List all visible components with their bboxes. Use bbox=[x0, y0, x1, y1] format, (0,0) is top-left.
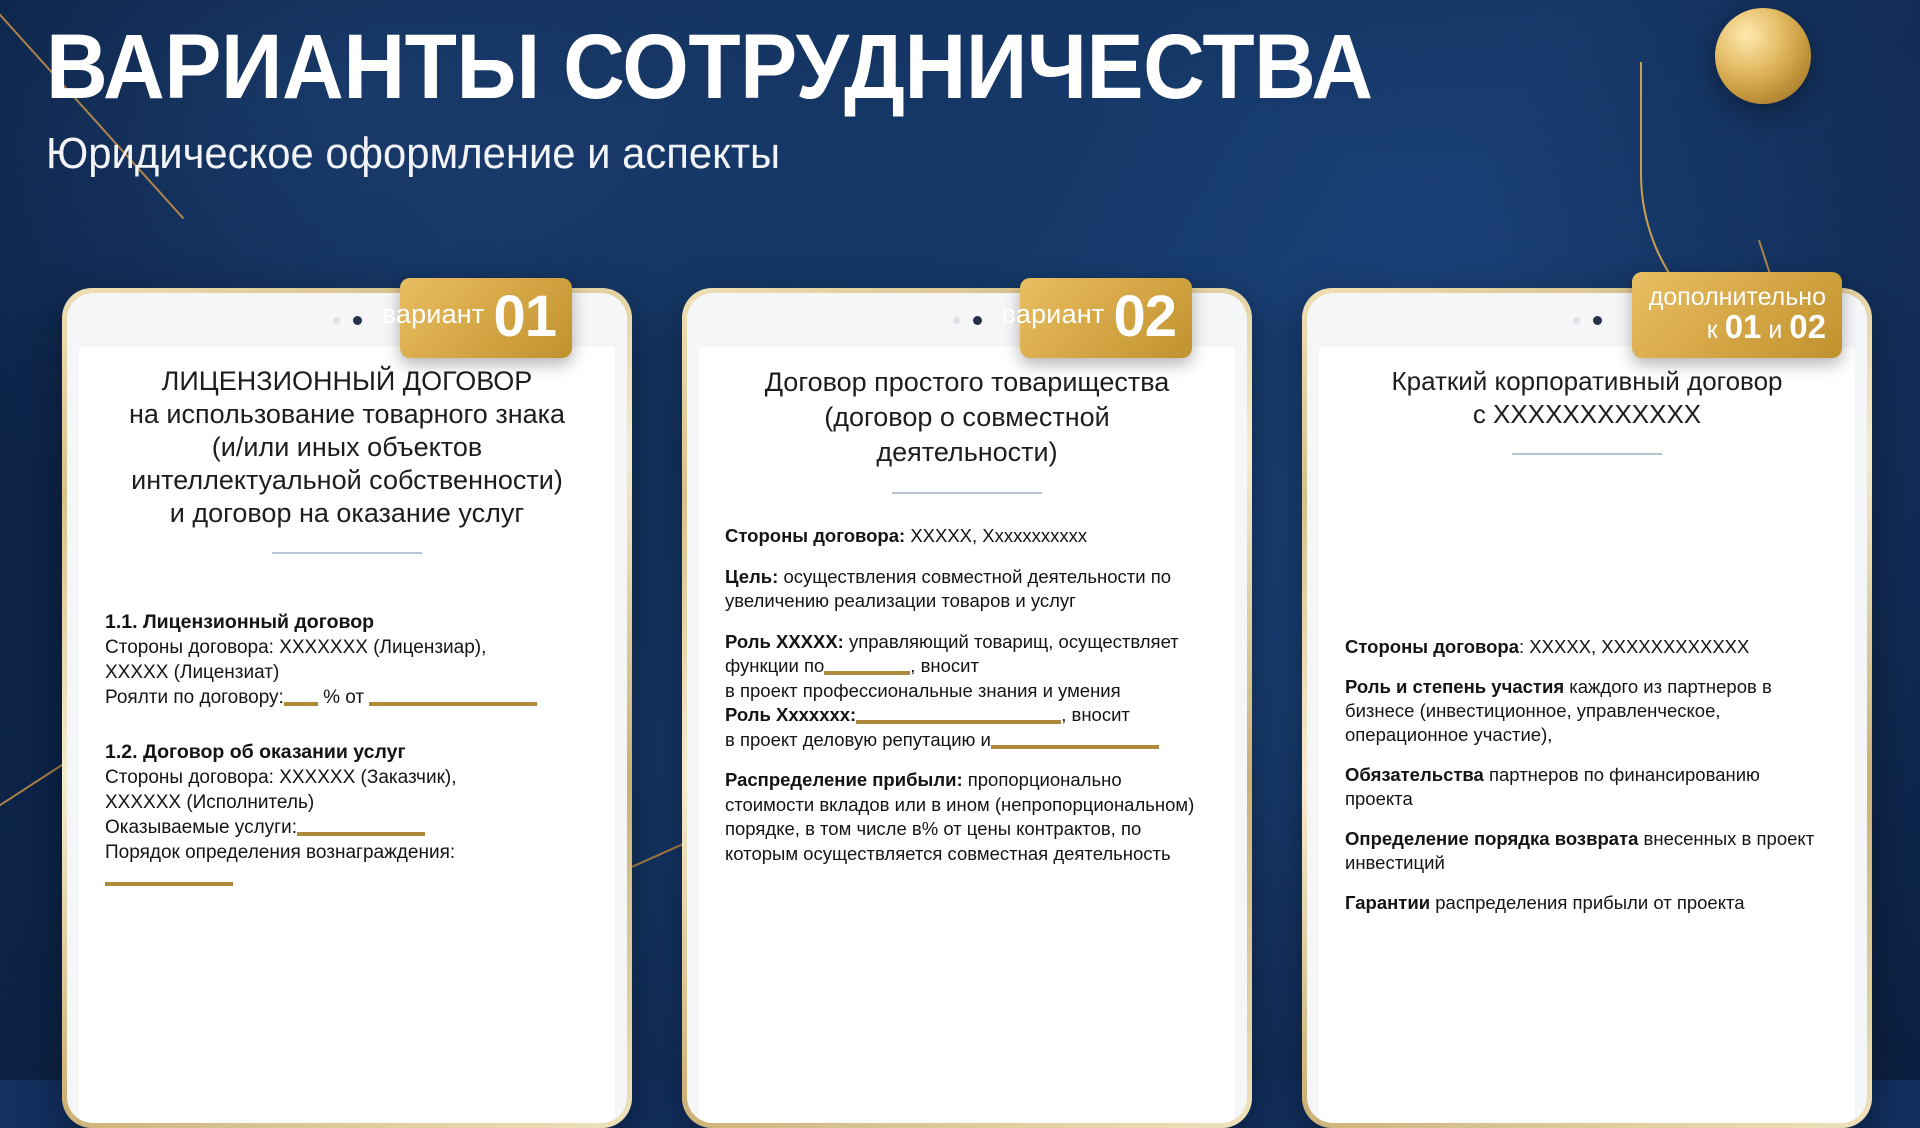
card-3-parties-label: Стороны договора bbox=[1345, 636, 1519, 657]
card-2-role-y-line3-row: в проект деловую репутацию и bbox=[725, 728, 1209, 753]
card-2-item-role-x: Роль ХХХХХ: управляющий товарищ, осущест… bbox=[725, 630, 1209, 704]
card-3-badge-num-1: 01 bbox=[1725, 308, 1762, 345]
card-3-item-return: Определение порядка возврата внесенных в… bbox=[1345, 827, 1829, 875]
sensor-icon bbox=[953, 317, 960, 324]
card-2-divider bbox=[892, 492, 1042, 494]
sensor-icon bbox=[1573, 317, 1580, 324]
card-3-badge-line-2: к 01 и 02 bbox=[1707, 312, 1826, 345]
card-2-item-profit: Распределение прибыли: пропорционально с… bbox=[725, 768, 1209, 866]
card-3-divider bbox=[1512, 453, 1662, 455]
card-2-heading-line-3: деятельности) bbox=[725, 435, 1209, 470]
card-2-role-x-tail: , вносит bbox=[910, 655, 979, 676]
card-1-heading-line-1: ЛИЦЕНЗИОННЫЙ ДОГОВОР bbox=[105, 365, 589, 398]
card-1-screen-frame: ЛИЦЕНЗИОННЫЙ ДОГОВОР на использование то… bbox=[67, 293, 627, 1123]
page-title: ВАРИАНТЫ СОТРУДНИЧЕСТВА bbox=[46, 20, 1441, 114]
card-3-obligations-label: Обязательства bbox=[1345, 764, 1484, 785]
card-1-section-2-line-2: ХХХХХХ (Исполнитель) bbox=[105, 790, 589, 815]
card-3-badge-num-2: 02 bbox=[1789, 308, 1826, 345]
card-2-goal-value: осуществления совместной деятельности по… bbox=[725, 566, 1171, 612]
card-1-royalty-row: Роялти по договору: % от bbox=[105, 685, 589, 710]
camera-icon bbox=[1593, 316, 1602, 325]
card-3-return-label: Определение порядка возврата bbox=[1345, 828, 1638, 849]
card-2-profit-label: Распределение прибыли: bbox=[725, 769, 963, 790]
card-1-badge-label: вариант bbox=[382, 299, 485, 336]
card-3-item-parties: Стороны договора: ХХХХХ, ХХХХХХХХХХХХ bbox=[1345, 635, 1829, 659]
royalty-percent-blank[interactable] bbox=[284, 702, 318, 706]
slide-header: ВАРИАНТЫ СОТРУДНИЧЕСТВА Юридическое офор… bbox=[46, 20, 1546, 180]
card-1-section-1-line-2: ХХХХХ (Лицензиат) bbox=[105, 660, 589, 685]
royalty-base-blank[interactable] bbox=[369, 702, 537, 706]
card-3-guarantees-value: распределения прибыли от проекта bbox=[1430, 892, 1744, 913]
card-3-heading: Краткий корпоративный договор с ХХХХХХХХ… bbox=[1345, 365, 1829, 431]
card-1-badge: вариант 01 bbox=[400, 278, 572, 358]
card-2-badge-number: 02 bbox=[1113, 290, 1176, 344]
camera-icon bbox=[973, 316, 982, 325]
card-2-screen-frame: Договор простого товарищества (договор о… bbox=[687, 293, 1247, 1123]
card-3-screen: Краткий корпоративный договор с ХХХХХХХХ… bbox=[1319, 347, 1855, 1123]
decor-gold-ball bbox=[1715, 8, 1811, 104]
card-3-screen-frame: Краткий корпоративный договор с ХХХХХХХХ… bbox=[1307, 293, 1867, 1123]
page-subtitle: Юридическое оформление и аспекты bbox=[46, 128, 1471, 180]
card-2-role-x-line3: в проект профессиональные знания и умени… bbox=[725, 679, 1209, 704]
role-y-reputation-blank[interactable] bbox=[991, 745, 1159, 749]
card-2-role-y-label: Роль Хххххxx: bbox=[725, 704, 856, 725]
card-1-remuneration-blank-row bbox=[105, 865, 589, 890]
card-1-section-2-title: 1.2. Договор об оказании услуг bbox=[105, 740, 589, 765]
services-blank[interactable] bbox=[297, 832, 425, 836]
card-1-section-2-line-1: Стороны договора: ХХХХХХ (Заказчик), bbox=[105, 765, 589, 790]
card-2-parties-value: ХХХХХ, Ххххххххххх bbox=[905, 525, 1087, 546]
card-2-item-parties: Стороны договора: ХХХХХ, Ххххххххххх bbox=[725, 524, 1209, 549]
card-2-item-goal: Цель: осуществления совместной деятельно… bbox=[725, 565, 1209, 614]
card-1-services-label: Оказываемые услуги: bbox=[105, 817, 297, 838]
card-1-royalty-suffix: % от bbox=[323, 687, 364, 708]
role-x-function-blank[interactable] bbox=[824, 671, 910, 675]
card-3-item-guarantees: Гарантии распределения прибыли от проект… bbox=[1345, 891, 1829, 915]
card-2-badge: вариант 02 bbox=[1020, 278, 1192, 358]
card-3-parties-value: : ХХХХХ, ХХХХХХХХХХХХ bbox=[1519, 636, 1749, 657]
card-3-badge-prefix: к bbox=[1707, 316, 1718, 344]
card-3-badge-conj: и bbox=[1768, 316, 1782, 344]
card-1-heading: ЛИЦЕНЗИОННЫЙ ДОГОВОР на использование то… bbox=[105, 365, 589, 530]
card-2-role-y-tail: , вносит bbox=[1061, 704, 1130, 725]
card-2-parties-label: Стороны договора: bbox=[725, 525, 905, 546]
card-1-heading-line-3: (и/или иных объектов bbox=[105, 431, 589, 464]
card-2-heading-line-1: Договор простого товарищества bbox=[725, 365, 1209, 400]
card-3-item-role: Роль и степень участия каждого из партне… bbox=[1345, 675, 1829, 747]
card-3-badge: дополнительно к 01 и 02 bbox=[1632, 272, 1842, 358]
card-2-role-x-label: Роль ХХХХХ: bbox=[725, 631, 844, 652]
card-3-item-obligations: Обязательства партнеров по финансировани… bbox=[1345, 763, 1829, 811]
card-1-divider bbox=[272, 552, 422, 554]
card-1-remuneration-label: Порядок определения вознаграждения: bbox=[105, 840, 589, 865]
card-2-heading-line-2: (договор о совместной bbox=[725, 400, 1209, 435]
card-2-badge-label: вариант bbox=[1002, 299, 1105, 336]
sensor-icon bbox=[333, 317, 340, 324]
remuneration-blank[interactable] bbox=[105, 882, 233, 886]
card-1-tablet[interactable]: ЛИЦЕНЗИОННЫЙ ДОГОВОР на использование то… bbox=[62, 288, 632, 1128]
card-3-heading-line-2: с ХХХХХХХХХХХХ bbox=[1345, 398, 1829, 431]
card-1-heading-line-2: на использование товарного знака bbox=[105, 398, 589, 431]
card-1-section-1-title: 1.1. Лицензионный договор bbox=[105, 610, 589, 635]
card-1-services-row: Оказываемые услуги: bbox=[105, 815, 589, 840]
card-1-heading-line-4: интеллектуальной собственности) bbox=[105, 464, 589, 497]
card-3-role-label: Роль и степень участия bbox=[1345, 676, 1564, 697]
card-1-section-2: 1.2. Договор об оказании услуг Стороны д… bbox=[105, 740, 589, 890]
card-2-screen: Договор простого товарищества (договор о… bbox=[699, 347, 1235, 1123]
card-1-section-1: 1.1. Лицензионный договор Стороны догово… bbox=[105, 610, 589, 710]
card-1-badge-number: 01 bbox=[493, 290, 556, 344]
card-2-role-y-line3: в проект деловую репутацию и bbox=[725, 729, 991, 750]
card-1-screen: ЛИЦЕНЗИОННЫЙ ДОГОВОР на использование то… bbox=[79, 347, 615, 1123]
card-1-section-1-line-1: Стороны договора: ХХХХХХХ (Лицензиар), bbox=[105, 635, 589, 660]
card-3-guarantees-label: Гарантии bbox=[1345, 892, 1430, 913]
card-2-tablet[interactable]: Договор простого товарищества (договор о… bbox=[682, 288, 1252, 1128]
card-3-heading-line-1: Краткий корпоративный договор bbox=[1345, 365, 1829, 398]
card-2-item-role-y: Роль Хххххxx:, вносит в проект деловую р… bbox=[725, 703, 1209, 752]
card-3-tablet[interactable]: Краткий корпоративный договор с ХХХХХХХХ… bbox=[1302, 288, 1872, 1128]
role-y-blank[interactable] bbox=[856, 720, 1061, 724]
card-2-goal-label: Цель: bbox=[725, 566, 778, 587]
card-2-heading: Договор простого товарищества (договор о… bbox=[725, 365, 1209, 470]
card-1-heading-line-5: и договор на оказание услуг bbox=[105, 497, 589, 530]
card-1-royalty-label: Роялти по договору: bbox=[105, 687, 284, 708]
camera-icon bbox=[353, 316, 362, 325]
